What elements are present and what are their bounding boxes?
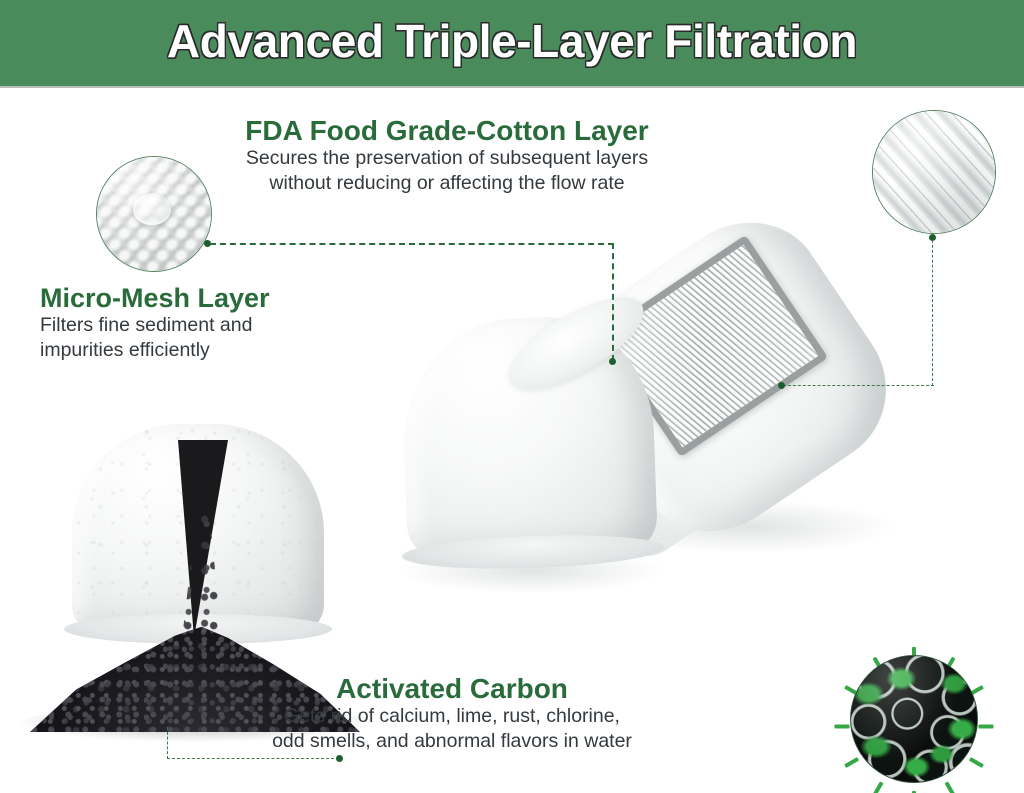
callout-body-line-1: Secures the preservation of subsequent l… xyxy=(0,146,894,171)
callout-heading: Activated Carbon xyxy=(30,673,874,704)
callout-body-line-1: Filters fine sediment and xyxy=(40,313,270,338)
callout-cotton-layer: FDA Food Grade-Cotton Layer Secures the … xyxy=(0,115,1024,196)
ray xyxy=(945,781,956,793)
connector-end-dot xyxy=(778,382,785,389)
page-title: Advanced Triple-Layer Filtration xyxy=(167,18,857,68)
infographic-canvas: Advanced Triple-Layer Filtration xyxy=(0,0,1024,793)
callout-body-line-2: impurities efficiently xyxy=(40,338,270,363)
connector-segment-horizontal xyxy=(783,385,934,386)
connector-end-dot xyxy=(609,358,616,365)
header-banner: Advanced Triple-Layer Filtration xyxy=(0,0,1024,86)
callout-body-line-1: Gets rid of calcium, lime, rust, chlorin… xyxy=(30,704,874,729)
connector-segment-horizontal xyxy=(167,758,339,759)
callout-activated-carbon: Activated Carbon Gets rid of calcium, li… xyxy=(0,673,1024,754)
callout-heading: Micro-Mesh Layer xyxy=(40,283,270,313)
callout-micro-mesh-layer: Micro-Mesh Layer Filters fine sediment a… xyxy=(40,283,270,363)
callout-body-line-2: without reducing or affecting the flow r… xyxy=(0,171,894,196)
water-filter-upright xyxy=(404,318,654,578)
callout-heading: FDA Food Grade-Cotton Layer xyxy=(0,115,894,146)
callout-body-line-2: odd smells, and abnormal flavors in wate… xyxy=(30,729,874,754)
connector-segment-horizontal xyxy=(210,243,614,245)
connector-segment-vertical xyxy=(932,240,933,386)
connector-end-dot xyxy=(336,755,343,762)
ray xyxy=(873,781,884,793)
connector-segment-vertical xyxy=(612,243,614,361)
